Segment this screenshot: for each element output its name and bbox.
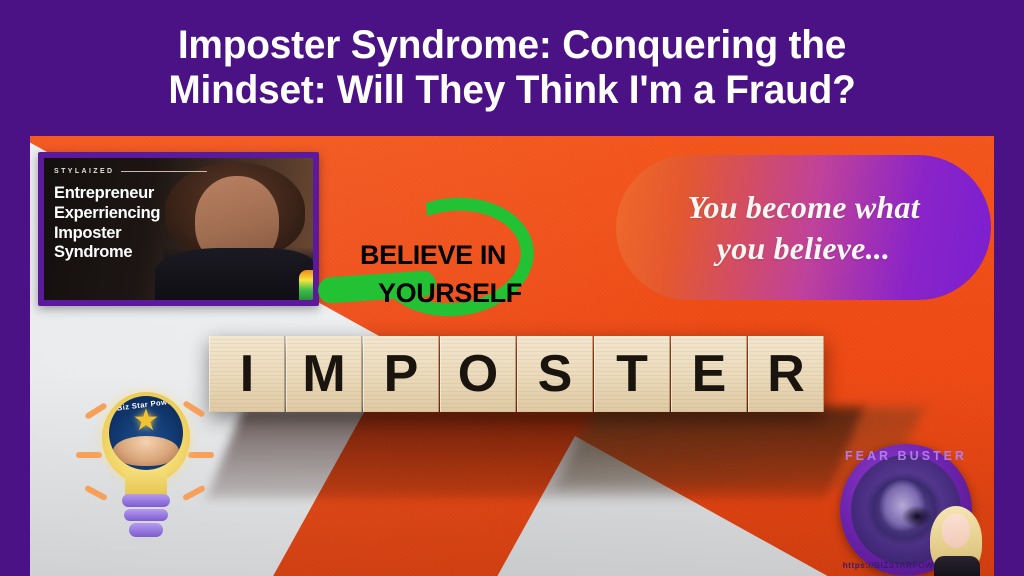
- ray-icon: [182, 400, 206, 418]
- video-title-line-1: Entrepreneur: [54, 184, 204, 204]
- thumbnail-canvas: Imposter Syndrome: Conquering the Mindse…: [0, 0, 1024, 576]
- title-banner: Imposter Syndrome: Conquering the Mindse…: [0, 0, 1024, 136]
- ray-icon: [182, 485, 206, 502]
- letter-tile: O: [440, 336, 516, 412]
- ray-icon: [188, 452, 214, 458]
- ray-icon: [84, 402, 108, 420]
- title-line-2: Mindset: Will They Think I'm a Fraud?: [46, 68, 977, 113]
- title-line-1: Imposter Syndrome: Conquering the: [46, 23, 977, 68]
- ray-icon: [84, 485, 108, 502]
- bulb-orb: Biz Star Power ★: [109, 396, 183, 470]
- tile-letter: M: [302, 348, 345, 400]
- tile-letter: T: [616, 348, 648, 400]
- tile-letter: O: [458, 348, 498, 400]
- letter-tile: R: [748, 336, 824, 412]
- tile-letter: P: [384, 348, 419, 400]
- video-title: Entrepreneur Experriencing Imposter Synd…: [54, 184, 204, 263]
- tile-letter: E: [692, 348, 727, 400]
- video-title-line-2: Experriencing: [54, 204, 204, 224]
- badge-top-label: FEAR BUSTER: [840, 449, 972, 463]
- letter-tile: I: [209, 336, 285, 412]
- eyebrow-rule: [121, 171, 207, 172]
- letter-tile: S: [517, 336, 593, 412]
- believe-line-1: BELIEVE IN: [360, 240, 506, 271]
- page-title: Imposter Syndrome: Conquering the Mindse…: [46, 23, 977, 113]
- video-title-line-3: Imposter: [54, 224, 204, 244]
- quote-line-2: you believe...: [717, 228, 890, 269]
- video-title-line-4: Syndrome: [54, 243, 204, 263]
- video-thumbnail-card[interactable]: STYLAIZED Entrepreneur Experriencing Imp…: [38, 152, 319, 306]
- tile-letter: R: [767, 348, 805, 400]
- tile-letter: I: [240, 348, 254, 400]
- video-eyebrow: STYLAIZED: [54, 168, 207, 175]
- believe-in-yourself-callout: BELIEVE IN YOURSELF: [336, 196, 556, 326]
- believe-line-2: YOURSELF: [378, 278, 522, 309]
- bulb-base-ring: [122, 494, 170, 507]
- ray-icon: [76, 452, 102, 458]
- bulb-base: [122, 494, 170, 536]
- star-icon: ★: [133, 406, 160, 436]
- letter-tile: T: [594, 336, 670, 412]
- hands-icon: [113, 436, 179, 466]
- imposter-letter-tiles: I M P O S T E R: [209, 336, 825, 412]
- video-thumbnail-image: STYLAIZED Entrepreneur Experriencing Imp…: [44, 158, 313, 300]
- avatar-body: [934, 556, 980, 576]
- color-flag-accent: [299, 270, 313, 300]
- bulb-base-ring: [129, 523, 163, 537]
- letter-tile: E: [671, 336, 747, 412]
- tile-letter: S: [538, 348, 573, 400]
- video-eyebrow-label: STYLAIZED: [54, 168, 115, 175]
- letter-tile: P: [363, 336, 439, 412]
- letter-tile: M: [286, 336, 362, 412]
- quote-line-1: You become what: [687, 187, 919, 228]
- bulb-base-ring: [124, 509, 168, 521]
- avatar-face: [942, 514, 970, 548]
- quote-pill: You become what you believe...: [616, 155, 991, 300]
- photo-area: I M P O S T E R STYLAIZED Entrepreneur: [30, 136, 994, 576]
- biz-star-power-logo[interactable]: Biz Star Power ★: [78, 372, 213, 542]
- host-avatar: [928, 502, 984, 576]
